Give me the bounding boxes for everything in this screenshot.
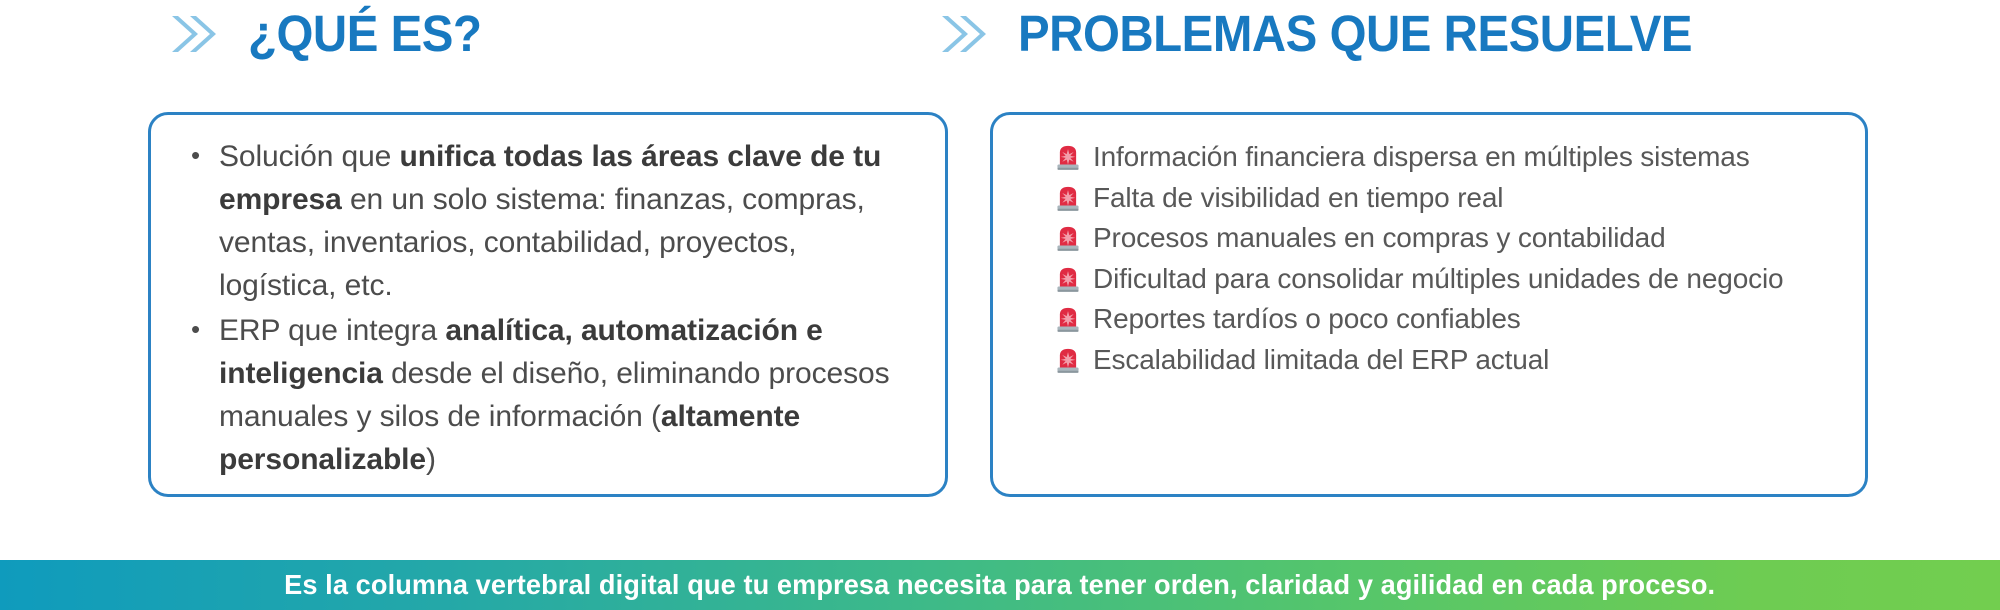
police-siren-icon (1055, 145, 1081, 171)
list-item: Información financiera dispersa en múlti… (1055, 137, 1845, 178)
page-title-right: PROBLEMAS QUE RESUELVE (1018, 4, 1692, 63)
list-item: Falta de visibilidad en tiempo real (1055, 178, 1845, 219)
card-que-es: Solución que unifica todas las áreas cla… (148, 112, 948, 497)
card-problemas: Información financiera dispersa en múlti… (990, 112, 1868, 497)
list-item: Procesos manuales en compras y contabili… (1055, 218, 1845, 259)
double-chevron-right-icon (168, 14, 234, 54)
problemas-list: Información financiera dispersa en múlti… (993, 115, 1865, 380)
list-item-label: Procesos manuales en compras y contabili… (1093, 222, 1666, 253)
que-es-bullet-list: Solución que unifica todas las áreas cla… (151, 115, 945, 481)
police-siren-icon (1055, 348, 1081, 374)
list-item: Dificultad para consolidar múltiples uni… (1055, 259, 1845, 300)
police-siren-icon (1055, 267, 1081, 293)
page-title-left: ¿QUÉ ES? (248, 4, 481, 63)
list-item-label: Falta de visibilidad en tiempo real (1093, 182, 1503, 213)
police-siren-icon (1055, 226, 1081, 252)
heading-que-es: ¿QUÉ ES? (168, 4, 499, 63)
list-item: Reportes tardíos o poco confiables (1055, 299, 1845, 340)
police-siren-icon (1055, 186, 1081, 212)
heading-problemas: PROBLEMAS QUE RESUELVE (938, 4, 1743, 63)
list-item: Escalabilidad limitada del ERP actual (1055, 340, 1845, 381)
list-item: ERP que integra analítica, automatizació… (189, 309, 919, 481)
list-item: Solución que unifica todas las áreas cla… (189, 135, 919, 307)
list-item-label: Información financiera dispersa en múlti… (1093, 141, 1750, 172)
list-item-label: Dificultad para consolidar múltiples uni… (1093, 263, 1783, 294)
double-chevron-right-icon (938, 14, 1004, 54)
banner-text: Es la columna vertebral digital que tu e… (284, 569, 1715, 601)
police-siren-icon (1055, 307, 1081, 333)
list-item-label: Reportes tardíos o poco confiables (1093, 303, 1521, 334)
headings-row: ¿QUÉ ES? PROBLEMAS QUE RESUELVE (0, 0, 2000, 84)
list-item-label: Escalabilidad limitada del ERP actual (1093, 344, 1549, 375)
bottom-banner: Es la columna vertebral digital que tu e… (0, 560, 2000, 610)
